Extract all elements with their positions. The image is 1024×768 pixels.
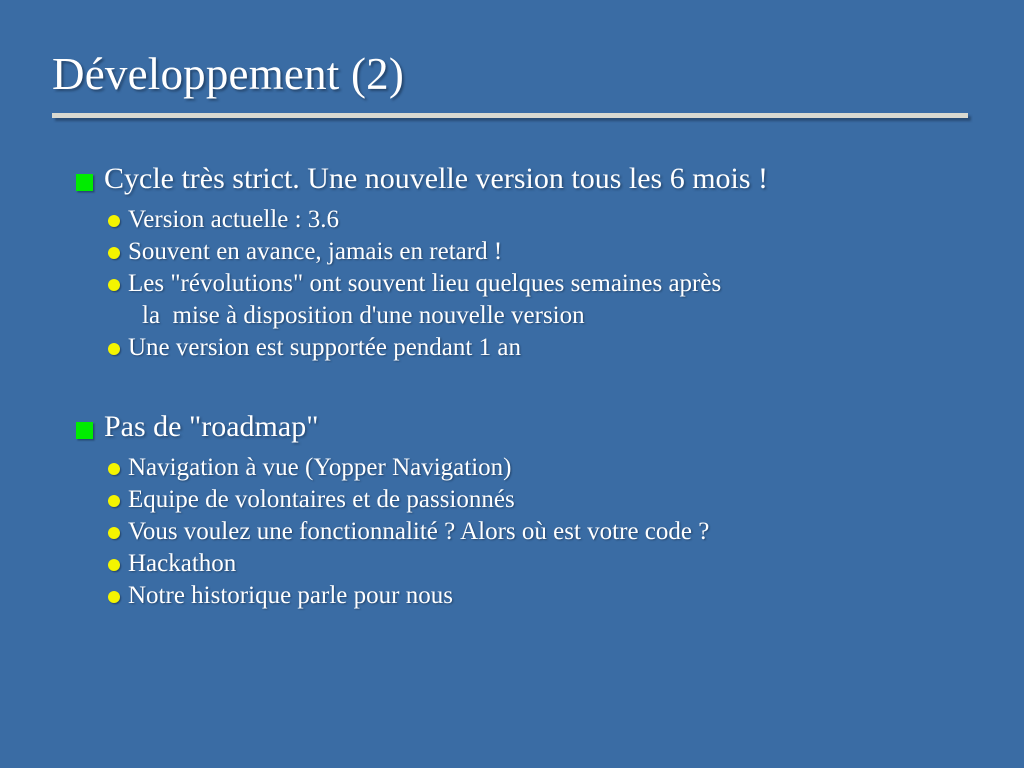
level2-bullet-label: Une version est supportée pendant 1 an xyxy=(128,332,964,364)
level2-bullet: Vous voulez une fonctionnalité ? Alors o… xyxy=(0,516,1024,548)
slide-body: Cycle très strict. Une nouvelle version … xyxy=(0,160,1024,612)
page-title: Développement (2) xyxy=(52,47,970,101)
green-square-bullet-icon xyxy=(76,422,93,439)
level2-list: Version actuelle : 3.6 Souvent en avance… xyxy=(0,204,1024,364)
yellow-dot-bullet-icon xyxy=(108,495,120,507)
level2-bullet-label: Vous voulez une fonctionnalité ? Alors o… xyxy=(128,516,964,548)
yellow-dot-bullet-icon xyxy=(108,247,120,259)
level2-bullet: Une version est supportée pendant 1 an xyxy=(0,332,1024,364)
level2-bullet-label: Les "révolutions" ont souvent lieu quelq… xyxy=(128,268,964,300)
level2-bullet-continuation: la mise à disposition d'une nouvelle ver… xyxy=(128,300,964,332)
level2-bullet: Version actuelle : 3.6 xyxy=(0,204,1024,236)
yellow-dot-bullet-icon xyxy=(108,215,120,227)
level2-bullet-label: Version actuelle : 3.6 xyxy=(128,204,964,236)
bullet-group: Pas de "roadmap" Navigation à vue (Yoppe… xyxy=(0,408,1024,612)
level2-bullet: Hackathon xyxy=(0,548,1024,580)
green-square-bullet-icon xyxy=(76,174,93,191)
level2-bullet-label: Navigation à vue (Yopper Navigation) xyxy=(128,452,964,484)
presentation-slide: Développement (2) Cycle très strict. Une… xyxy=(0,0,1024,768)
level2-bullet: Equipe de volontaires et de passionnés xyxy=(0,484,1024,516)
level2-bullet-label: Hackathon xyxy=(128,548,964,580)
level1-bullet: Pas de "roadmap" xyxy=(0,408,1024,446)
yellow-dot-bullet-icon xyxy=(108,591,120,603)
level1-bullet-label: Cycle très strict. Une nouvelle version … xyxy=(104,160,944,198)
bullet-group: Cycle très strict. Une nouvelle version … xyxy=(0,160,1024,364)
level2-bullet: Les "révolutions" ont souvent lieu quelq… xyxy=(0,268,1024,332)
level2-bullet-label: Notre historique parle pour nous xyxy=(128,580,964,612)
level2-list: Navigation à vue (Yopper Navigation) Equ… xyxy=(0,452,1024,612)
level1-bullet: Cycle très strict. Une nouvelle version … xyxy=(0,160,1024,198)
slide-title-block: Développement (2) xyxy=(52,47,970,101)
level2-bullet-label: Equipe de volontaires et de passionnés xyxy=(128,484,964,516)
yellow-dot-bullet-icon xyxy=(108,463,120,475)
yellow-dot-bullet-icon xyxy=(108,343,120,355)
yellow-dot-bullet-icon xyxy=(108,527,120,539)
level2-bullet-label: Souvent en avance, jamais en retard ! xyxy=(128,236,964,268)
title-underline-rule xyxy=(52,113,968,118)
yellow-dot-bullet-icon xyxy=(108,279,120,291)
level2-bullet: Navigation à vue (Yopper Navigation) xyxy=(0,452,1024,484)
level2-bullet: Notre historique parle pour nous xyxy=(0,580,1024,612)
yellow-dot-bullet-icon xyxy=(108,559,120,571)
level2-bullet: Souvent en avance, jamais en retard ! xyxy=(0,236,1024,268)
level1-bullet-label: Pas de "roadmap" xyxy=(104,408,944,446)
